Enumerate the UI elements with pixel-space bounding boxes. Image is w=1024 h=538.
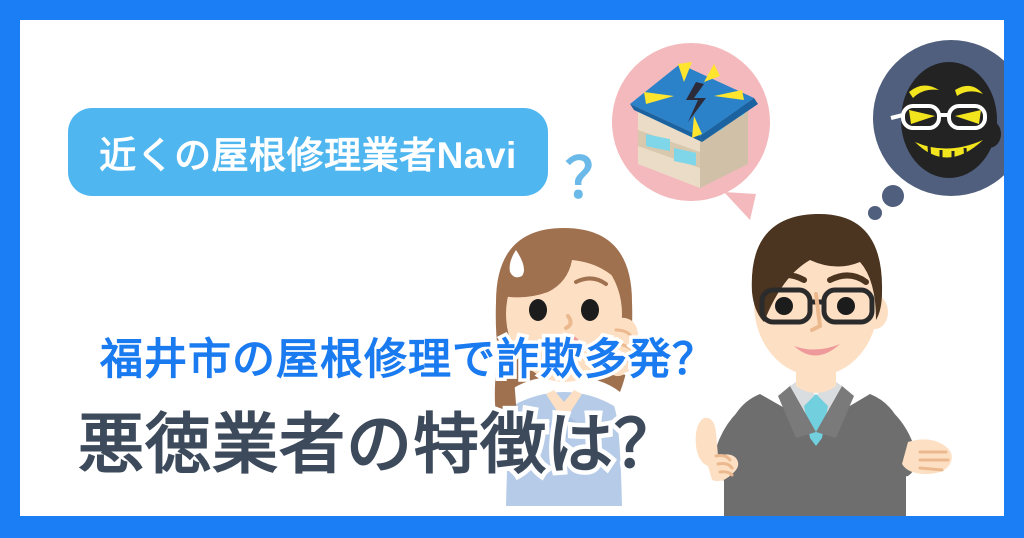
headline-title: 悪徳業者の特徴は？	[78, 391, 681, 487]
man-eye-right	[837, 297, 855, 315]
site-badge[interactable]: 近くの屋根修理業者Navi	[68, 108, 548, 196]
headline-subtitle: 福井市の屋根修理で詐欺多発？	[100, 325, 716, 387]
woman-eye-left	[529, 299, 547, 321]
woman-eye-right	[581, 299, 599, 321]
inner-content-area: 近くの屋根修理業者Navi ？ 福井市の屋根修理で詐欺多発？ 悪徳業者の特徴は？	[20, 20, 1004, 516]
site-badge-label: 近くの屋根修理業者Navi	[99, 125, 517, 179]
man-eye-left	[775, 297, 793, 315]
decorative-question-mark: ？	[565, 134, 621, 215]
thumbnail-canvas: 近くの屋根修理業者Navi ？ 福井市の屋根修理で詐欺多発？ 悪徳業者の特徴は？	[0, 0, 1024, 538]
